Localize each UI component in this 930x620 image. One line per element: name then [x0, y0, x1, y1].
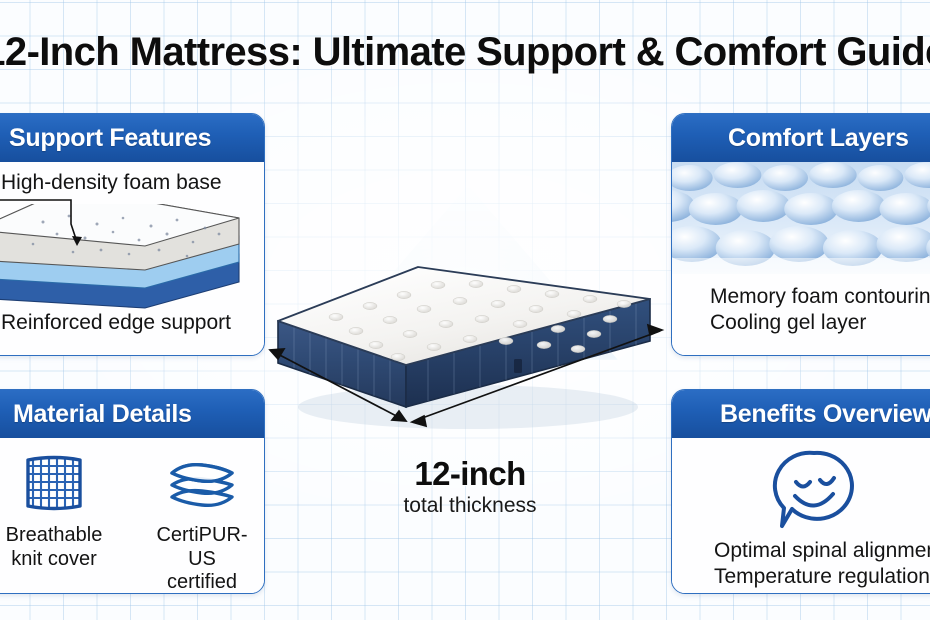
material-item-knit-cover: Breathable knit cover	[0, 452, 113, 594]
card-material-details-body: Breathable knit cover	[0, 438, 264, 593]
card-support-features-body: High-density foam base	[0, 162, 264, 355]
card-material-details-header: Material Details	[0, 390, 264, 438]
stacked-foam-layers-icon	[143, 452, 261, 514]
benefit-line-1: Optimal spinal alignment	[714, 538, 930, 564]
card-benefits-overview-header: Benefits Overview	[672, 390, 930, 438]
comfort-layer-lines: Memory foam contouring Cooling gel layer	[710, 284, 930, 335]
support-feature-line-top: High-density foam base	[1, 170, 222, 196]
card-support-features-title: Support Features	[9, 124, 211, 153]
material-item-list: Breathable knit cover	[0, 452, 264, 594]
mesh-knit-icon	[0, 452, 113, 514]
card-comfort-layers-title: Comfort Layers	[728, 124, 909, 153]
mattress-3d-illustration	[258, 255, 678, 465]
material-item-label: CertiPUR-US certified foam	[143, 524, 261, 594]
dimension-label: 12-inch total thickness	[320, 455, 620, 518]
comfort-layer-line-2: Cooling gel layer	[710, 310, 930, 336]
page-title: 12-Inch Mattress: Ultimate Support & Com…	[0, 30, 930, 75]
benefit-lines: Optimal spinal alignment Temperature reg…	[714, 538, 930, 589]
card-support-features: Support Features High-density foam base	[0, 113, 265, 356]
benefit-line-2: Temperature regulation	[714, 564, 930, 590]
card-comfort-layers-body: Memory foam contouring Cooling gel layer	[672, 162, 930, 355]
callout-leader-line	[0, 198, 241, 268]
dimension-value: 12-inch	[320, 455, 620, 493]
card-material-details-title: Material Details	[13, 400, 192, 429]
material-item-label: Breathable knit cover	[0, 524, 113, 571]
sleeping-smiley-speech-bubble-icon	[768, 446, 860, 534]
comfort-layer-line-1: Memory foam contouring	[710, 284, 930, 310]
infographic-canvas: 12-Inch Mattress: Ultimate Support & Com…	[0, 0, 930, 620]
card-support-features-header: Support Features	[0, 114, 264, 162]
egg-crate-foam-texture	[672, 162, 930, 274]
card-comfort-layers-header: Comfort Layers	[672, 114, 930, 162]
card-material-details: Material Details	[0, 389, 265, 594]
card-benefits-overview-body: Optimal spinal alignment Temperature reg…	[672, 438, 930, 593]
dimension-caption: total thickness	[320, 494, 620, 518]
support-feature-line-bottom: Reinforced edge support	[1, 310, 231, 336]
card-benefits-overview-title: Benefits Overview	[720, 400, 930, 429]
card-comfort-layers: Comfort Layers	[671, 113, 930, 356]
material-item-certipur-foam: CertiPUR-US certified foam	[143, 452, 261, 594]
card-benefits-overview: Benefits Overview Optimal spinal alignme…	[671, 389, 930, 594]
